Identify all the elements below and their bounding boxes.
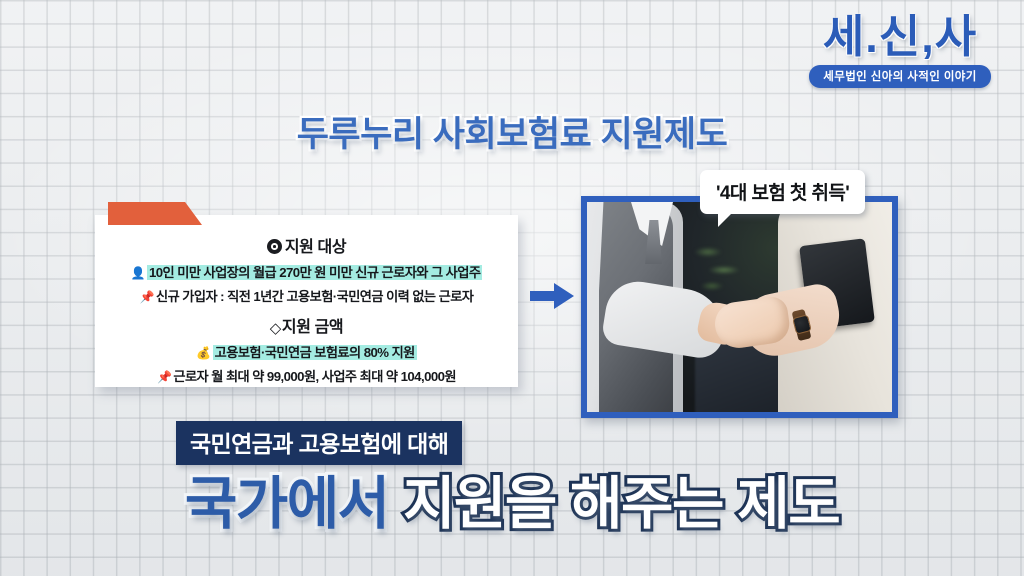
caption-main-white: 지원을 해주는 제도 <box>389 472 840 536</box>
photo-scene <box>587 202 892 412</box>
info-card: 지원 대상 👤10인 미만 사업장의 월급 270만 원 미만 신규 근로자와 … <box>95 215 518 387</box>
slide-canvas: 세.신,사 세무법인 신아의 사적인 이야기 두루누리 사회보험료 지원제도 지… <box>0 0 1024 576</box>
card-line-1-text: 10인 미만 사업장의 월급 270만 원 미만 신규 근로자와 그 사업주 <box>147 265 482 280</box>
card-line-2: 📌신규 가입자 : 직전 1년간 고용보험·국민연금 이력 없는 근로자 <box>95 286 518 305</box>
diamond-icon: ◇ <box>270 320 281 337</box>
person-icon: 👤 <box>131 266 145 280</box>
card-section-target: 지원 대상 👤10인 미만 사업장의 월급 270만 원 미만 신규 근로자와 … <box>95 233 518 305</box>
target-icon <box>267 239 282 254</box>
section-heading-target-label: 지원 대상 <box>285 239 346 256</box>
card-line-4: 📌근로자 월 최대 약 99,000원, 사업주 최대 약 104,000원 <box>95 366 518 385</box>
section-heading-amount-label: 지원 금액 <box>282 319 343 336</box>
card-line-3: 💰고용보험·국민연금 보험료의 80% 지원 <box>95 342 518 361</box>
page-title: 두루누리 사회보험료 지원제도 <box>0 106 1024 157</box>
section-heading-amount: ◇지원 금액 <box>95 313 518 337</box>
card-line-3-text: 고용보험·국민연금 보험료의 80% 지원 <box>213 345 417 360</box>
card-line-2-text: 신규 가입자 : 직전 1년간 고용보험·국민연금 이력 없는 근로자 <box>156 289 473 304</box>
brand-tagline: 세무법인 신아의 사적인 이야기 <box>809 65 991 88</box>
card-line-1: 👤10인 미만 사업장의 월급 270만 원 미만 신규 근로자와 그 사업주 <box>95 262 518 281</box>
brand-logo: 세.신,사 세무법인 신아의 사적인 이야기 <box>790 14 1010 88</box>
speech-bubble-text: '4대 보험 첫 취득' <box>716 183 849 204</box>
pushpin-icon: 📌 <box>140 290 154 304</box>
caption-main: 국가에서 지원을 해주는 제도 <box>0 458 1024 540</box>
card-line-4-text: 근로자 월 최대 약 99,000원, 사업주 최대 약 104,000원 <box>173 369 456 384</box>
card-corner-tab <box>108 202 202 225</box>
section-heading-target: 지원 대상 <box>95 233 518 257</box>
caption-main-blue: 국가에서 <box>185 472 389 536</box>
card-section-amount: ◇지원 금액 💰고용보험·국민연금 보험료의 80% 지원 📌근로자 월 최대 … <box>95 313 518 385</box>
pushpin-icon: 📌 <box>157 370 171 384</box>
moneybag-icon: 💰 <box>196 346 210 360</box>
speech-bubble-tail <box>718 212 733 227</box>
brand-wordmark: 세.신,사 <box>790 14 1010 59</box>
speech-bubble: '4대 보험 첫 취득' <box>700 170 865 214</box>
handshake-photo <box>581 196 898 418</box>
arrow-right-icon <box>530 283 574 309</box>
